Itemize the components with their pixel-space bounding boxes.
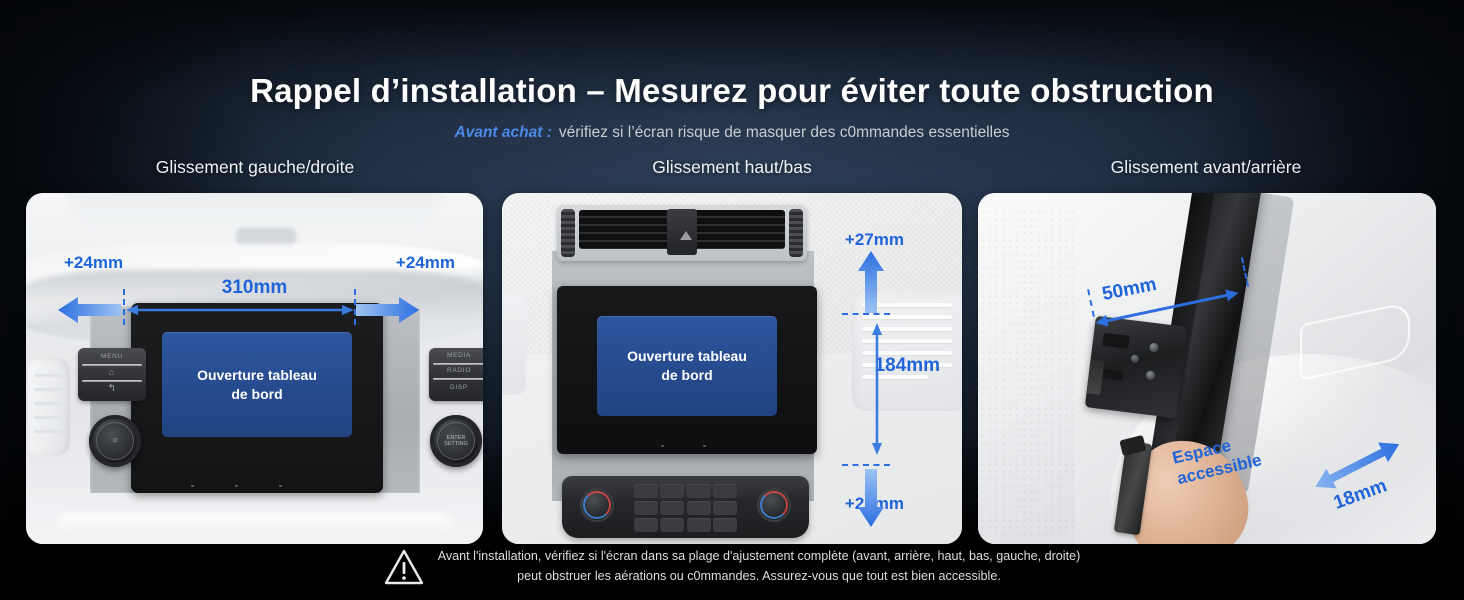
air-vent-left xyxy=(28,358,70,456)
button-pad-right[interactable]: MEDIA RADIO DISP xyxy=(429,348,483,401)
panel-captions: Glissement gauche/droite Glissement haut… xyxy=(0,157,1464,181)
subtitle-accent: Avant achat : xyxy=(455,124,552,141)
panel-label-left-right: Glissement gauche/droite xyxy=(30,157,480,178)
panel-label-up-down: Glissement haut/bas xyxy=(507,157,957,178)
disp-button-label: DISP xyxy=(429,384,483,391)
hvac-control-panel[interactable] xyxy=(562,476,809,538)
footer-line2: peut obstruer les aérations ou c0mmandes… xyxy=(517,569,1001,583)
menu-button-label: MENU xyxy=(78,353,146,360)
hvac-button-grid[interactable] xyxy=(634,484,737,532)
panel-front-back: 50mm 18mm Espace accessible xyxy=(978,193,1436,544)
dashboard-photo-1: Ouverture tableau de bord MENU ⌂ ↰ MEDIA… xyxy=(26,193,483,544)
dash-lower-trim xyxy=(56,512,453,538)
screen-message-box-1: Ouverture tableau de bord xyxy=(162,332,352,437)
page-title: Rappel d’installation – Mesurez pour évi… xyxy=(0,72,1464,110)
screen-message-line2: de bord xyxy=(231,386,282,402)
panel-left-right: Ouverture tableau de bord MENU ⌂ ↰ MEDIA… xyxy=(26,193,483,544)
panel-up-down: Ouverture tableau de bord +27mm +27mm 18… xyxy=(502,193,962,544)
enter-setting-knob[interactable]: ENTER SETTING xyxy=(430,415,482,467)
dim-height: 184mm xyxy=(875,355,941,377)
guide-line-top xyxy=(842,313,890,315)
hvac-temp-knob-right[interactable] xyxy=(757,488,791,522)
screen-message-line1-2: Ouverture tableau xyxy=(627,348,747,364)
vent-triangle-icon xyxy=(680,231,692,240)
screen-message-box-2: Ouverture tableau de bord xyxy=(597,316,777,416)
air-vent-left-2 xyxy=(502,291,526,395)
screen-message-line1: Ouverture tableau xyxy=(197,367,317,383)
air-vent-top xyxy=(557,205,807,261)
screen-message-line2-2: de bord xyxy=(661,367,712,383)
arrow-down-expand xyxy=(858,469,884,527)
arrow-width-double xyxy=(126,303,354,317)
arrow-up-expand xyxy=(858,251,884,313)
media-button-label: MEDIA xyxy=(429,352,483,359)
page-subtitle: Avant achat :vérifiez si l’écran risque … xyxy=(0,124,1464,142)
dim-left-offset: +24mm xyxy=(64,253,123,273)
home-icon: ⌂ xyxy=(78,367,146,377)
power-knob[interactable]: ⏻ xyxy=(89,415,141,467)
arrow-height-double xyxy=(870,323,884,455)
radio-button-label: RADIO xyxy=(429,367,483,374)
hvac-temp-knob-left[interactable] xyxy=(580,488,614,522)
button-pad-left[interactable]: MENU ⌂ ↰ xyxy=(78,348,146,401)
enter-knob-line2: SETTING xyxy=(444,441,468,447)
footer-line1: Avant l'installation, vérifiez si l'écra… xyxy=(438,549,1081,563)
panels-row: Ouverture tableau de bord MENU ⌂ ↰ MEDIA… xyxy=(0,193,1464,544)
power-icon: ⏻ xyxy=(113,438,117,444)
subtitle-rest: vérifiez si l’écran risque de masquer de… xyxy=(559,124,1010,141)
arrow-left-expand xyxy=(58,297,121,311)
footer-text: Avant l'installation, vérifiez si l'écra… xyxy=(438,547,1081,586)
back-icon: ↰ xyxy=(78,383,146,394)
guide-line-bottom xyxy=(842,464,890,466)
arrow-right-expand xyxy=(356,297,419,311)
dim-top-offset: +27mm xyxy=(845,230,904,250)
panel-label-front-back: Glissement avant/arrière xyxy=(980,157,1432,178)
dim-right-offset: +24mm xyxy=(396,253,455,273)
footer-warning: Avant l'installation, vérifiez si l'écra… xyxy=(0,540,1464,594)
enter-knob-line1: ENTER xyxy=(447,435,466,441)
header: Rappel d’installation – Mesurez pour évi… xyxy=(0,0,1464,142)
warning-icon xyxy=(384,549,424,585)
guide-line-left xyxy=(123,289,125,325)
mounting-bracket xyxy=(1085,316,1188,419)
dim-width: 310mm xyxy=(26,277,483,299)
